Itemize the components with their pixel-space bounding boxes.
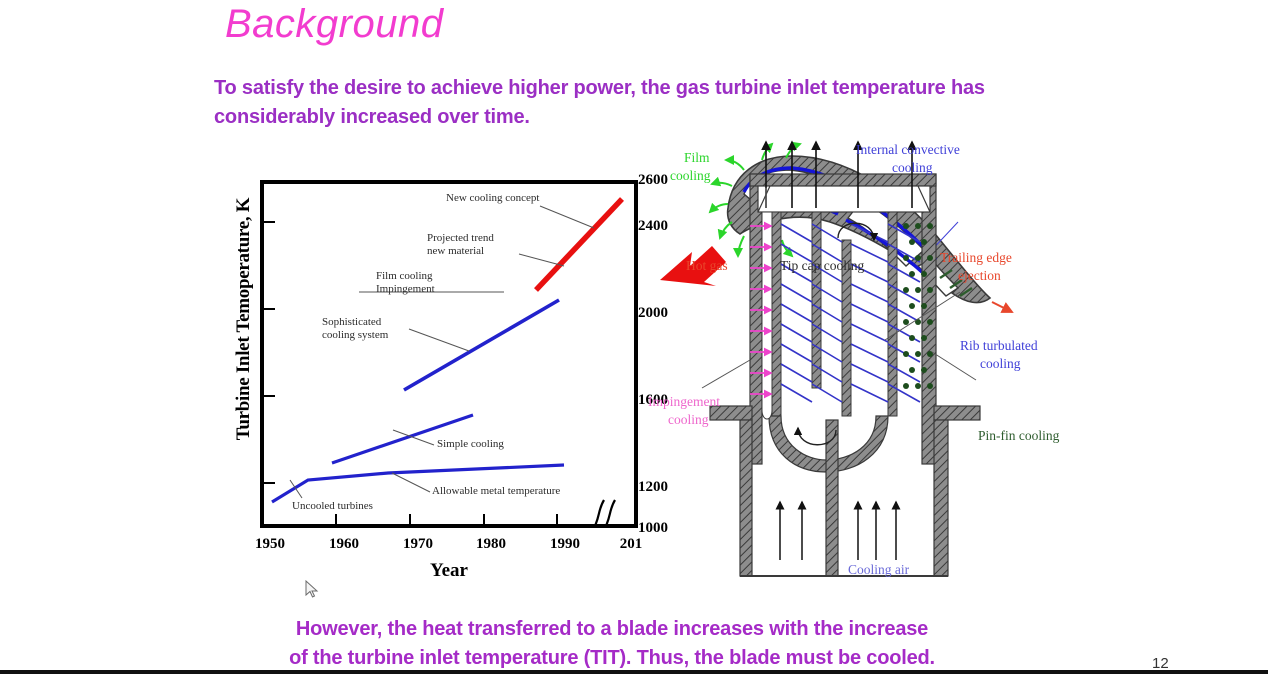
chart-annotation-film-cooling: Film cooling — [376, 270, 433, 283]
x-tick-1960: 1960 — [314, 536, 374, 553]
top-statement-text: To satisfy the desire to achieve higher … — [214, 74, 1034, 132]
series-new-cooling-concept — [536, 199, 622, 290]
label-cooling-air: Cooling air — [848, 562, 909, 578]
label-pin-fin-cooling: Pin-fin cooling — [978, 428, 1059, 444]
slide-bottom-rule — [0, 670, 1268, 674]
x-tick-1970: 1970 — [388, 536, 448, 553]
turbine-blade-cooling-diagram: Film cooling Internal convective cooling… — [640, 130, 1260, 600]
x-tick-1990: 1990 — [535, 536, 595, 553]
bottom-statement-line1: However, the heat transferred to a blade… — [182, 615, 1042, 644]
trailing-edge-leader — [992, 302, 1012, 312]
chart-annotation-uncooled-turbines: Uncooled turbines — [292, 500, 373, 513]
series-sophisticated-cooling — [404, 300, 559, 390]
label-impingement-line1: Impingement — [648, 394, 720, 410]
impingement-leader — [702, 360, 750, 388]
pinfin-leader — [932, 352, 976, 380]
chart-plot-area: New cooling concept Projected trend new … — [260, 180, 638, 528]
chart-annotation-simple-cooling: Simple cooling — [437, 438, 504, 451]
chart-annotation-new-cooling-concept: New cooling concept — [446, 192, 539, 205]
mouse-cursor — [305, 580, 319, 598]
bottom-statement-text: However, the heat transferred to a blade… — [182, 615, 1042, 673]
label-rib-turbulated-line1: Rib turbulated — [960, 338, 1038, 354]
x-tick-1950: 1950 — [240, 536, 300, 553]
label-internal-convective-line2: cooling — [892, 160, 933, 176]
chart-annotation-impingement: Impingement — [376, 283, 435, 296]
chart-annotation-new-material: new material — [427, 245, 484, 258]
airfoil-cross-section — [660, 144, 1012, 312]
blade-diagram-svg — [640, 130, 1260, 600]
label-trailing-edge-line2: ejection — [958, 268, 1001, 284]
label-film-cooling-line1: Film — [684, 150, 710, 166]
label-internal-convective-line1: Internal convective — [856, 142, 960, 158]
chart-annotation-allowable-metal: Allowable metal temperature — [432, 485, 560, 498]
label-film-cooling-line2: cooling — [670, 168, 711, 184]
page-title: Background — [225, 0, 443, 48]
x-tick-1980: 1980 — [461, 536, 521, 553]
label-trailing-edge-line1: Trailing edge — [940, 250, 1012, 266]
chart-x-axis-label: Year — [260, 560, 638, 582]
chart-annotation-projected-trend: Projected trend — [427, 232, 494, 245]
turbine-inlet-temperature-chart: Turbine Inlet Temoperature, K 2600 2400 … — [198, 168, 668, 588]
label-impingement-line2: cooling — [668, 412, 709, 428]
chart-annotation-cooling-system: cooling system — [322, 329, 388, 342]
bottom-statement-line2: of the turbine inlet temperature (TIT). … — [182, 644, 1042, 673]
label-tip-cap-cooling: Tip cap cooling — [780, 258, 864, 274]
chart-y-axis-label: Turbine Inlet Temoperature, K — [233, 169, 255, 469]
label-rib-turbulated-line2: cooling — [980, 356, 1021, 372]
label-hot-gas: Hot gas — [686, 258, 728, 274]
chart-annotation-sophisticated: Sophisticated — [322, 316, 381, 329]
